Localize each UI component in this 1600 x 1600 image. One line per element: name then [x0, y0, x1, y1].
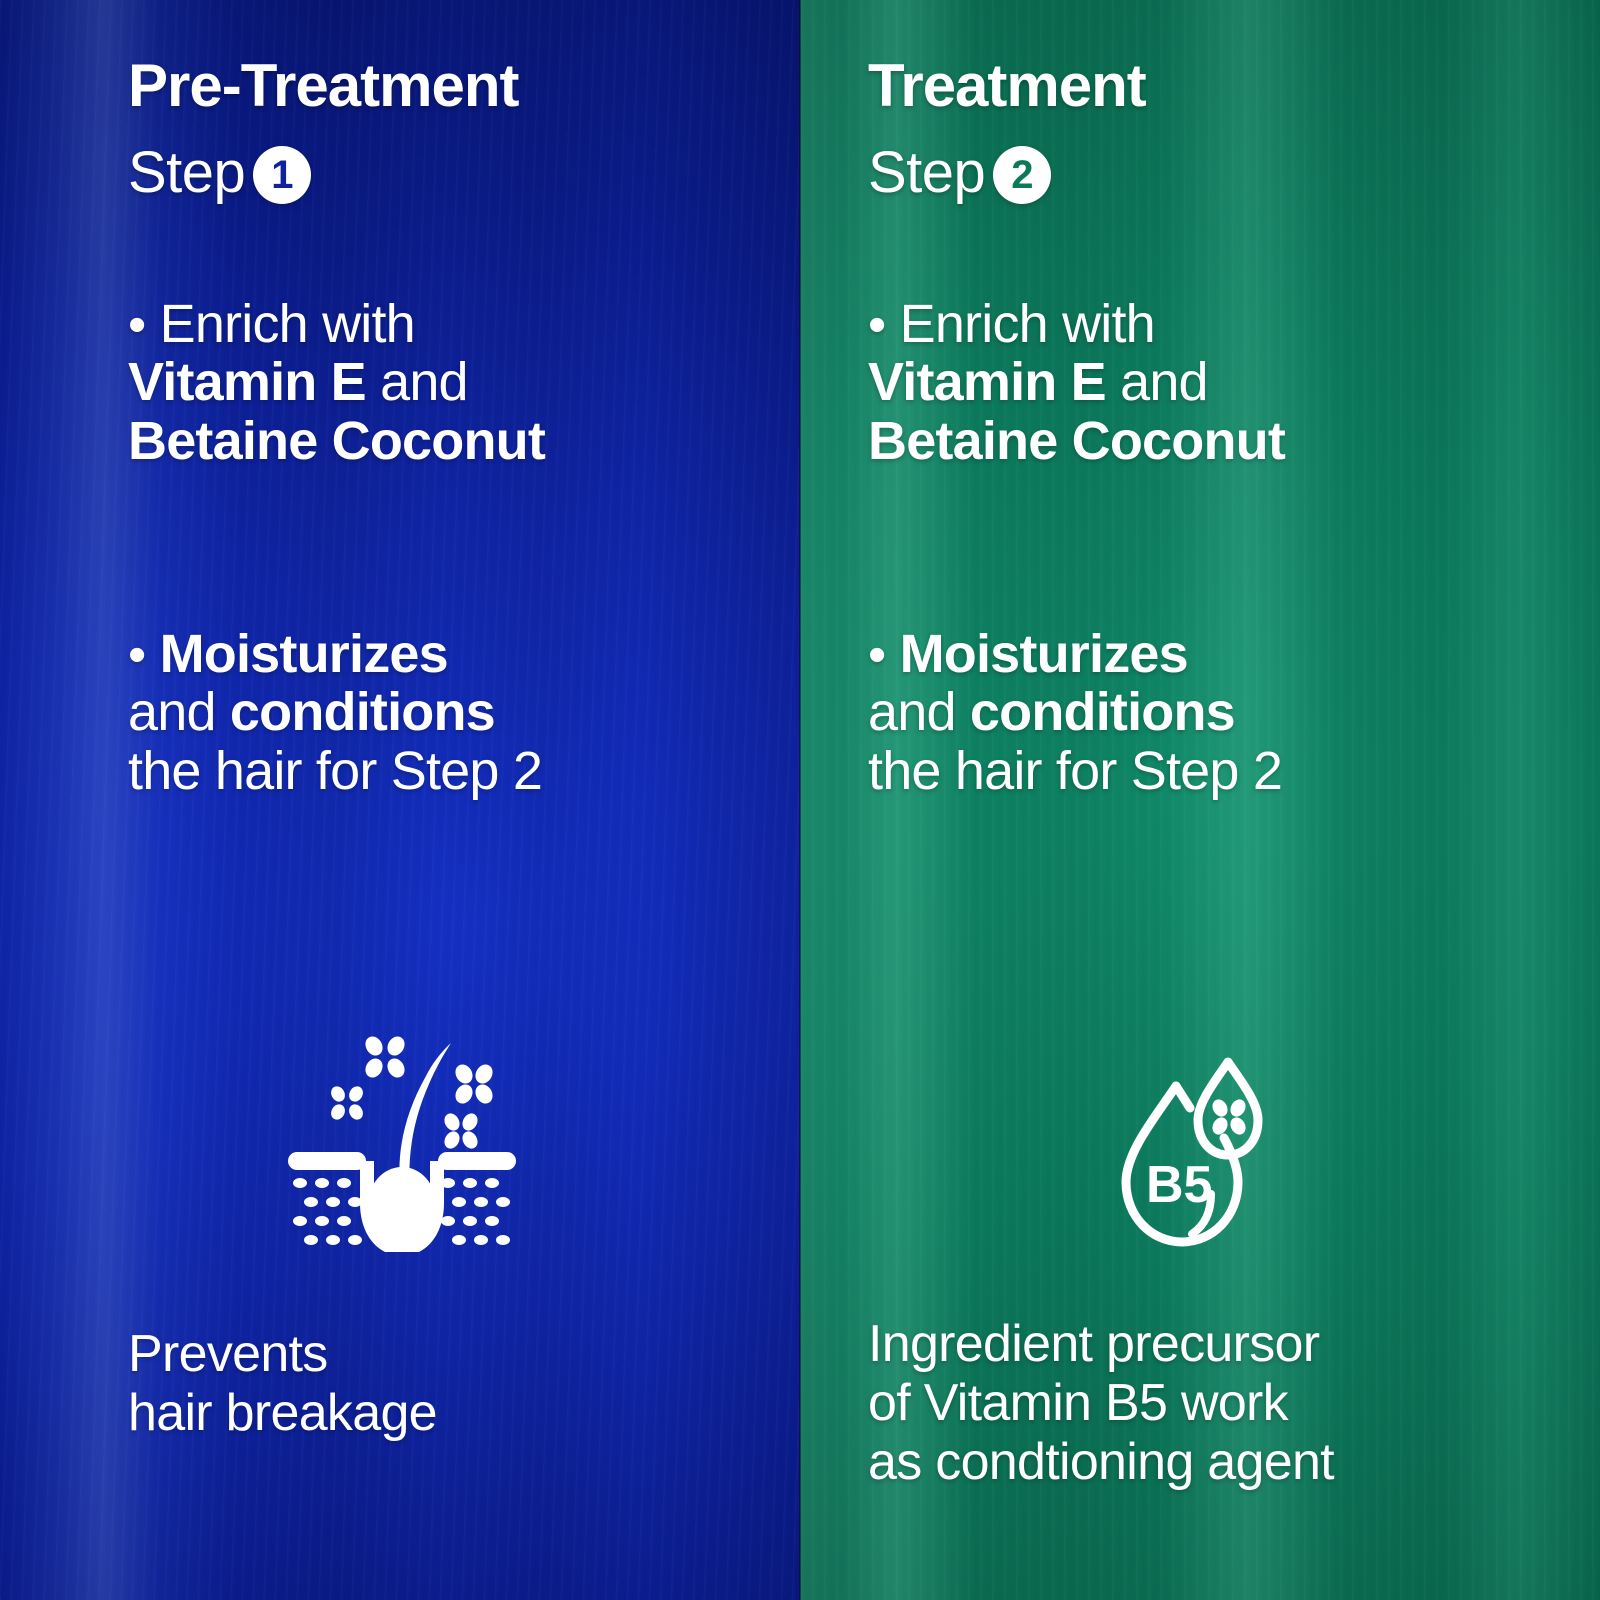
step-indicator-right: Step 2 — [868, 142, 1051, 204]
step-indicator-left: Step 1 — [128, 142, 311, 204]
bullet-line-text: Enrich with — [160, 294, 415, 354]
caption-line: Prevents — [128, 1325, 437, 1384]
bullet-moisturizes-right: • Moisturizes and conditions the hair fo… — [868, 625, 1282, 800]
nutrient-cluster-icon — [328, 1084, 365, 1122]
bullet-marker: • — [868, 296, 885, 354]
icon-area-left — [0, 1030, 800, 1252]
panel-pre-treatment: Pre-Treatment Step 1 • Enrich with Vitam… — [0, 0, 800, 1600]
caption-line: Ingredient precursor — [868, 1315, 1334, 1374]
bullet-marker: • — [128, 296, 145, 354]
page-title-right: Treatment — [868, 56, 1146, 116]
bullet-line-text: the hair for Step 2 — [868, 742, 1282, 800]
bullet-marker: • — [868, 626, 885, 684]
icon-area-right: B5 — [800, 1050, 1600, 1250]
bullet-line-text: Enrich with — [900, 294, 1155, 354]
caption-line: of Vitamin B5 work — [868, 1374, 1334, 1433]
nutrient-cluster-icon — [362, 1033, 408, 1080]
nutrient-cluster-icon — [452, 1061, 496, 1106]
caption-line: as condtioning agent — [868, 1433, 1334, 1492]
nutrient-cluster-icon — [1209, 1097, 1248, 1138]
bullet-marker: • — [128, 626, 145, 684]
bullet-enrich-right: • Enrich with Vitamin E and Betaine Coco… — [868, 295, 1285, 470]
panel-content-right: Treatment Step 2 • Enrich with Vitamin E… — [800, 0, 1600, 1600]
b5-droplet-icon: B5 — [1112, 1050, 1288, 1250]
step-badge-right: 2 — [993, 146, 1051, 204]
infographic-board: Pre-Treatment Step 1 • Enrich with Vitam… — [0, 0, 1600, 1600]
caption-line: hair breakage — [128, 1384, 437, 1443]
bullet-enrich-left: • Enrich with Vitamin E and Betaine Coco… — [128, 295, 545, 470]
step-badge-left: 1 — [253, 146, 311, 204]
nutrient-cluster-icon — [441, 1111, 480, 1152]
bullet-line-text: Vitamin E and — [128, 353, 545, 411]
panel-divider — [799, 0, 801, 1600]
panel-content-left: Pre-Treatment Step 1 • Enrich with Vitam… — [0, 0, 800, 1600]
step-label-right: Step — [868, 144, 985, 202]
panel-treatment: Treatment Step 2 • Enrich with Vitamin E… — [800, 0, 1600, 1600]
step-label-left: Step — [128, 144, 245, 202]
caption-left: Prevents hair breakage — [128, 1325, 437, 1443]
bullet-line-text: and conditions — [868, 683, 1282, 741]
bullet-line-text: the hair for Step 2 — [128, 742, 542, 800]
caption-right: Ingredient precursor of Vitamin B5 work … — [868, 1315, 1334, 1491]
bullet-line-text: Moisturizes — [900, 624, 1188, 684]
bullet-line-text: Betaine Coconut — [868, 412, 1285, 470]
bullet-line-text: Betaine Coconut — [128, 412, 545, 470]
page-title-left: Pre-Treatment — [128, 56, 518, 116]
bullet-line-text: Moisturizes — [160, 624, 448, 684]
bullet-line-text: and conditions — [128, 683, 542, 741]
bullet-moisturizes-left: • Moisturizes and conditions the hair fo… — [128, 625, 542, 800]
hair-follicle-icon — [280, 1030, 520, 1252]
b5-text: B5 — [1146, 1156, 1212, 1214]
bullet-line-text: Vitamin E and — [868, 353, 1285, 411]
